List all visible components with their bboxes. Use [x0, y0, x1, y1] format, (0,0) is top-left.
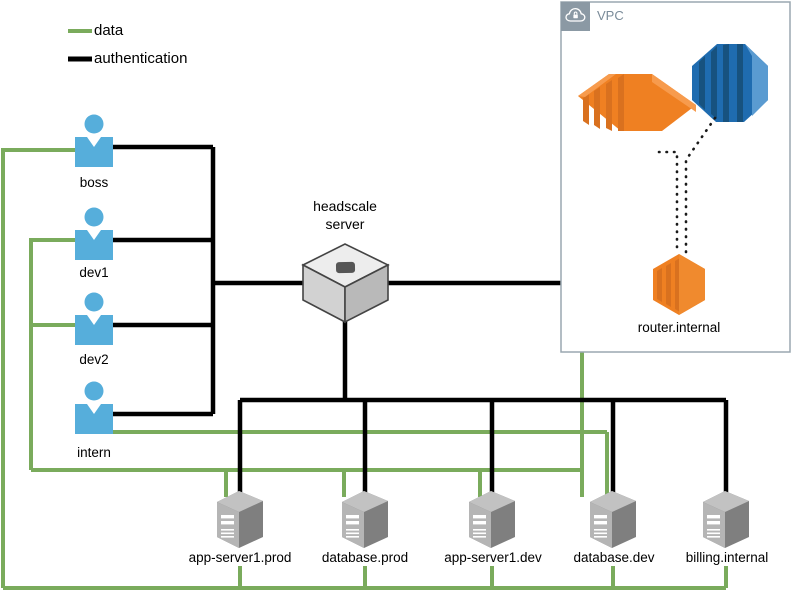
- server-icon-app-server1-prod: [217, 491, 263, 548]
- server-label-app-server1-dev: app-server1.dev: [436, 550, 550, 566]
- user-label-intern: intern: [44, 445, 144, 461]
- headscale-label-line2: server: [285, 216, 405, 232]
- server-icon-database-prod: [342, 491, 388, 548]
- router-label: router.internal: [604, 320, 754, 336]
- user-label-boss: boss: [44, 175, 144, 191]
- server-icon-billing-internal: [703, 491, 749, 548]
- server-icon-app-server1-dev: [469, 491, 515, 548]
- data-link-boss: [3, 150, 75, 588]
- server-label-billing-internal: billing.internal: [670, 550, 784, 566]
- server-label-database-dev: database.dev: [559, 550, 669, 566]
- user-icon-intern: [75, 382, 113, 435]
- headscale-label-line1: headscale: [285, 198, 405, 214]
- vpc-label: VPC: [597, 9, 624, 24]
- user-icon-dev2: [75, 293, 113, 346]
- cube-icon-headscale: [303, 244, 388, 322]
- server-icon-database-dev: [590, 491, 636, 548]
- server-label-database-prod: database.prod: [308, 550, 422, 566]
- user-label-dev2: dev2: [44, 352, 144, 368]
- server-label-app-server1-prod: app-server1.prod: [180, 550, 300, 566]
- diagram-graphics: [0, 0, 792, 593]
- legend-label-authentication: authentication: [94, 50, 187, 67]
- legend-label-data: data: [94, 22, 123, 39]
- user-icon-dev1: [75, 208, 113, 261]
- diagram-canvas: data authentication boss dev1 dev2 inter…: [0, 0, 792, 593]
- user-icon-boss: [75, 115, 113, 168]
- user-label-dev1: dev1: [44, 265, 144, 281]
